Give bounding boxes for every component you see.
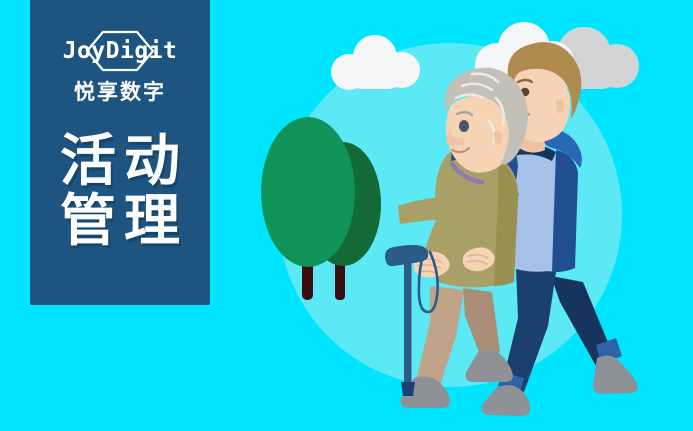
tree-front-crown (261, 117, 355, 267)
page-title-line-1: 活动 (52, 131, 188, 191)
brand-panel: JoyDigit 悦享数字 活动 管理 (30, 0, 210, 305)
cane-tip (401, 382, 415, 396)
brand-logo-mark: JoyDigit (45, 30, 195, 72)
page-title-line-2: 管理 (52, 191, 188, 251)
woman-cheek-blush (451, 137, 465, 145)
cane-shaft (404, 260, 412, 388)
poster-canvas: JoyDigit 悦享数字 活动 管理 (0, 0, 693, 431)
brand-logo: JoyDigit 悦享数字 (45, 30, 195, 103)
page-title: 活动 管理 (52, 131, 188, 252)
brand-chinese-name: 悦享数字 (74, 82, 166, 103)
woman-eye (459, 120, 469, 132)
young-man-hoodie-body (552, 150, 578, 272)
brand-wordmark: JoyDigit (63, 40, 178, 63)
